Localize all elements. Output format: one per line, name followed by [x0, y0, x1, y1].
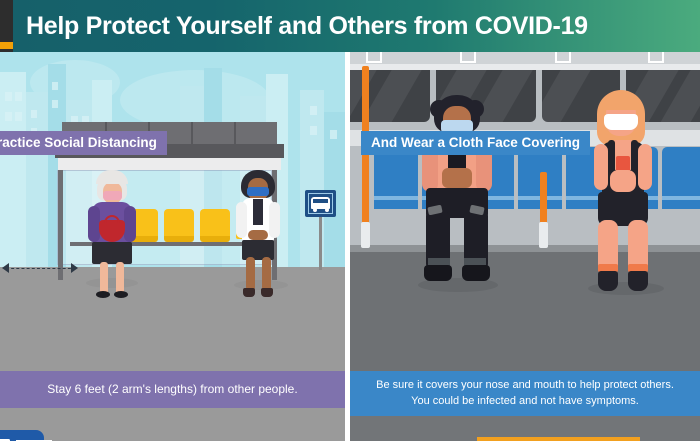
bus-ceiling-rail — [350, 64, 700, 70]
bus-seat-line — [662, 196, 700, 200]
left-footer — [0, 408, 345, 441]
page-title: Help Protect Yourself and Others from CO… — [26, 9, 666, 43]
cdc-emblem-icon — [0, 437, 12, 441]
building-window — [15, 112, 22, 121]
banner-left-label: Practice Social Distancing — [0, 135, 157, 150]
header-orange-accent — [0, 42, 13, 49]
sidewalk-ground — [0, 267, 345, 371]
banner-right-label: And Wear a Cloth Face Covering — [371, 135, 580, 150]
shelter-post — [58, 170, 63, 280]
building-window — [31, 110, 37, 118]
hand-strap-icon — [648, 52, 664, 63]
caption-social-distancing: Stay 6 feet (2 arm's lengths) from other… — [0, 371, 345, 408]
hand-strap-icon — [555, 52, 571, 63]
shelter-roof-segment — [234, 122, 236, 144]
bus-seat-line — [374, 196, 418, 200]
banner-practice-social-distancing: Practice Social Distancing — [0, 131, 167, 155]
bus-sign-post — [319, 215, 322, 270]
distance-dashed-line — [6, 268, 76, 269]
shelter-roof-segment — [191, 122, 193, 144]
bus-glyph-wheel — [313, 208, 317, 212]
caption-right-line2: You could be infected and not have sympt… — [350, 393, 700, 409]
leg-left — [246, 257, 255, 291]
distance-arrow-right — [71, 263, 78, 273]
shoe-left — [424, 265, 452, 281]
right-panel-face-covering: And Wear a Cloth Face Covering Be sure i… — [350, 52, 700, 441]
building-window — [5, 92, 12, 101]
building-window — [15, 92, 22, 101]
url-badge[interactable]: cdc.gov/coronavirus — [477, 437, 640, 441]
building-window — [5, 112, 12, 121]
bench-seat — [200, 209, 230, 239]
bench-seat-base — [164, 236, 194, 242]
grab-pole-base — [539, 222, 548, 248]
figure-shadow — [86, 278, 138, 288]
hands — [248, 230, 268, 240]
arm-left — [594, 144, 608, 190]
distance-arrow-left — [2, 263, 9, 273]
bench-seat-base — [200, 236, 230, 242]
shoe-right — [628, 271, 648, 291]
hand-strap-icon — [460, 52, 476, 63]
shoe-left — [243, 288, 255, 297]
grab-pole — [362, 66, 369, 244]
url-label: cdc.gov/coronavirus — [477, 437, 640, 441]
arm-right — [269, 202, 280, 238]
grab-pole-base — [361, 222, 370, 248]
infographic-poster: Help Protect Yourself and Others from CO… — [0, 0, 700, 441]
skirt — [92, 242, 132, 264]
shoe-left — [598, 271, 618, 291]
building-window — [52, 100, 58, 108]
bus-glyph-wheel — [325, 208, 329, 212]
caption-right-line1: Be sure it covers your nose and mouth to… — [350, 371, 700, 393]
shelter-roof-panel — [58, 158, 281, 170]
hand-strap-icon — [366, 52, 382, 63]
bus-glyph-window — [313, 199, 328, 203]
strap-right — [631, 140, 638, 174]
banner-wear-face-covering: And Wear a Cloth Face Covering — [361, 131, 590, 155]
header-bar: Help Protect Yourself and Others from CO… — [0, 0, 700, 52]
building-silhouette — [0, 72, 26, 267]
arm-right — [638, 144, 652, 190]
handbag-strap — [104, 215, 120, 225]
hands — [442, 168, 472, 188]
left-panel-social-distancing: Practice Social Distancing Stay 6 feet (… — [0, 52, 345, 441]
face-mask — [103, 191, 122, 200]
inner-top — [253, 199, 263, 225]
shoe-right — [114, 291, 128, 298]
leg-right — [116, 262, 124, 294]
face-mask — [247, 187, 269, 196]
building-window — [330, 130, 337, 139]
building-window — [310, 106, 317, 115]
leg-left — [100, 262, 108, 294]
shoe-right — [462, 265, 490, 281]
caption-left-text: Stay 6 feet (2 arm's lengths) from other… — [0, 371, 345, 408]
bench-seat — [164, 209, 194, 239]
face-mask — [604, 114, 638, 130]
caption-face-covering: Be sure it covers your nose and mouth to… — [350, 371, 700, 416]
shoe-left — [96, 291, 110, 298]
leg-right — [262, 257, 271, 291]
shoe-right — [261, 288, 273, 297]
strap-left — [608, 140, 615, 174]
arm-right — [124, 206, 136, 242]
arm-left — [236, 202, 247, 238]
hands — [610, 170, 636, 192]
building-window — [52, 82, 58, 90]
building-silhouette — [26, 92, 48, 267]
building-window — [310, 126, 317, 135]
header-left-accent-bar — [0, 0, 13, 52]
